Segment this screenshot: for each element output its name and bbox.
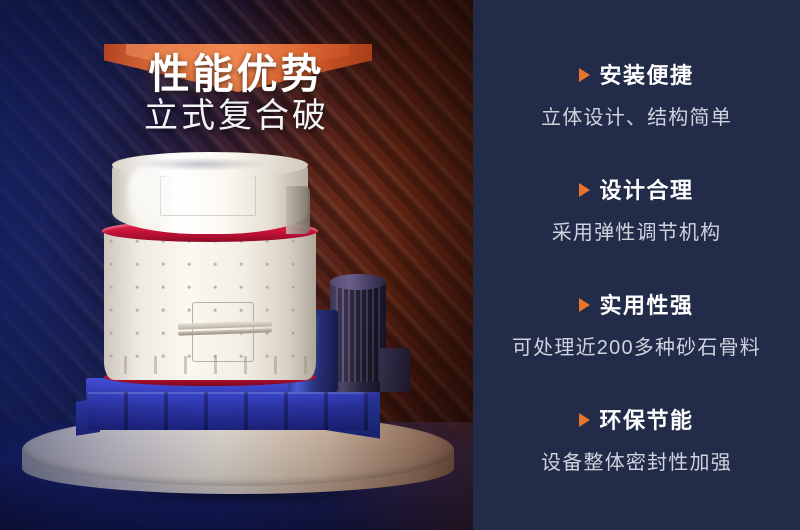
- feature-item-0: 安装便捷 立体设计、结构简单: [473, 58, 800, 130]
- page-subtitle: 立式复合破: [0, 88, 473, 137]
- feature-item-3: 环保节能 设备整体密封性加强: [473, 403, 800, 475]
- feature-desc-0: 立体设计、结构简单: [473, 101, 800, 130]
- feature-desc-2: 可处理近200多种砂石骨料: [473, 331, 800, 360]
- feature-desc-1: 采用弹性调节机构: [473, 216, 800, 245]
- feature-title-3: 环保节能: [599, 403, 693, 435]
- triangle-right-icon: [579, 68, 590, 82]
- triangle-right-icon: [579, 413, 590, 427]
- product-visual-panel: 性能优势 立式复合破: [0, 0, 473, 530]
- feature-title-2: 实用性强: [599, 288, 693, 320]
- feature-title-0: 安装便捷: [599, 58, 693, 90]
- feature-item-2: 实用性强 可处理近200多种砂石骨料: [473, 288, 800, 360]
- product-feature-banner: 性能优势 立式复合破 安装便捷 立体设计、结构简单 设计合理 采用弹性调节机构 …: [0, 0, 800, 530]
- feature-title-1: 设计合理: [599, 173, 693, 205]
- triangle-right-icon: [579, 298, 590, 312]
- feature-heading-0: 安装便捷: [473, 58, 800, 90]
- feature-list-panel: 安装便捷 立体设计、结构简单 设计合理 采用弹性调节机构 实用性强 可处理近20…: [473, 0, 800, 530]
- feature-item-1: 设计合理 采用弹性调节机构: [473, 173, 800, 245]
- feature-heading-1: 设计合理: [473, 173, 800, 205]
- feature-heading-3: 环保节能: [473, 403, 800, 435]
- triangle-right-icon: [579, 183, 590, 197]
- feature-heading-2: 实用性强: [473, 288, 800, 320]
- feature-desc-3: 设备整体密封性加强: [473, 446, 800, 475]
